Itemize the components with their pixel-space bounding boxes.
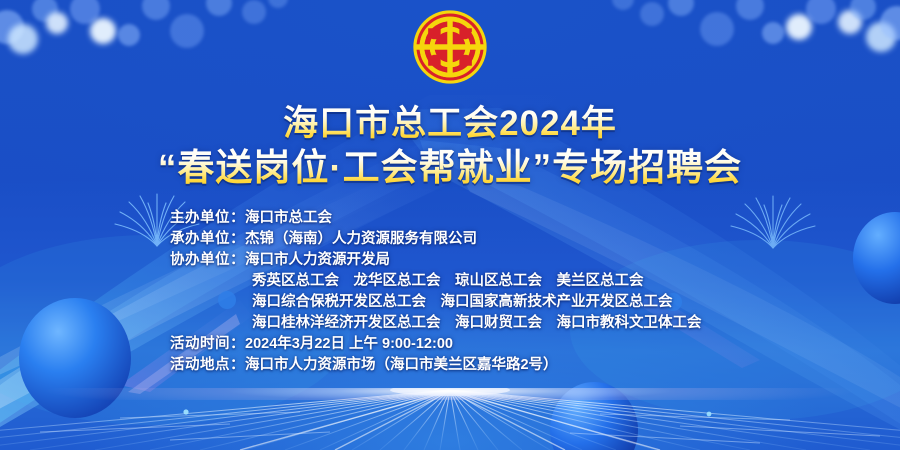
perspective-ground [0,388,900,450]
detail-row-undertaker: 承办单位：杰锦（海南）人力资源服务有限公司 [170,229,730,250]
coorganizer-value: 海口市人力资源开发局 [245,252,390,268]
bokeh-dot [786,14,812,40]
bokeh-dot [806,0,836,24]
bokeh-dot [736,0,764,20]
speed-lines [0,388,900,450]
bokeh-dot [90,18,116,44]
bokeh-dot [850,0,876,20]
bokeh-dot [206,0,232,16]
bokeh-dot [700,12,734,46]
bokeh-dot [242,0,266,24]
bokeh-dot [170,14,204,48]
bokeh-dot [142,0,170,20]
detail-row-time: 活动时间：2024年3月22日 上午 9:00-12:00 [170,334,730,355]
coorganizer-list-row: 海口桂林洋经济开发区总工会 海口财贸工会 海口市教科文卫体工会 [170,313,730,334]
time-label: 活动时间： [170,336,245,352]
time-value: 2024年3月22日 上午 9:00-12:00 [245,336,453,352]
title-block: 海口市总工会2024年 “春送岗位·工会帮就业”专场招聘会 [0,104,900,189]
undertaker-label: 承办单位： [170,231,245,247]
bokeh-dot [8,24,38,54]
bokeh-dot [866,22,896,52]
organizer-value: 海口市总工会 [245,210,332,226]
detail-row-coorganizer: 协办单位：海口市人力资源开发局 [170,250,730,271]
undertaker-value: 杰锦（海南）人力资源服务有限公司 [245,231,477,247]
bokeh-dot [762,22,784,44]
detail-row-place: 活动地点：海口市人力资源市场（海口市美兰区嘉华路2号） [170,355,730,376]
bokeh-dot [268,0,288,8]
bokeh-dot [46,12,68,34]
bokeh-dot [880,6,900,40]
horizon-glow [0,388,900,400]
event-details: 主办单位：海口市总工会 承办单位：杰锦（海南）人力资源服务有限公司 协办单位：海… [0,208,900,376]
decorative-sphere-bottom [550,382,638,450]
organizer-label: 主办单位： [170,210,245,226]
coorganizer-label: 协办单位： [170,252,245,268]
poster-title-line2: “春送岗位·工会帮就业”专场招聘会 [0,147,900,188]
bokeh-dot [118,24,140,46]
poster-title-line1: 海口市总工会2024年 [0,104,900,143]
bokeh-dot [70,0,100,24]
detail-row-organizer: 主办单位：海口市总工会 [170,208,730,229]
bokeh-dot [668,0,694,16]
coorganizer-list-row: 海口综合保税开发区总工会 海口国家高新技术产业开发区总工会 [170,292,730,313]
acftu-trade-union-emblem-logo [411,8,489,86]
bokeh-dot [612,0,634,10]
bokeh-dot [0,10,24,44]
bokeh-dot [640,2,664,26]
bokeh-dot [32,0,58,22]
place-label: 活动地点： [170,357,245,373]
place-value: 海口市人力资源市场（海口市美兰区嘉华路2号） [245,357,558,373]
coorganizer-list-row: 秀英区总工会 龙华区总工会 琼山区总工会 美兰区总工会 [170,271,730,292]
recruitment-fair-poster: 海口市总工会2024年 “春送岗位·工会帮就业”专场招聘会 主办单位：海口市总工… [0,0,900,450]
bokeh-dot [838,10,862,34]
